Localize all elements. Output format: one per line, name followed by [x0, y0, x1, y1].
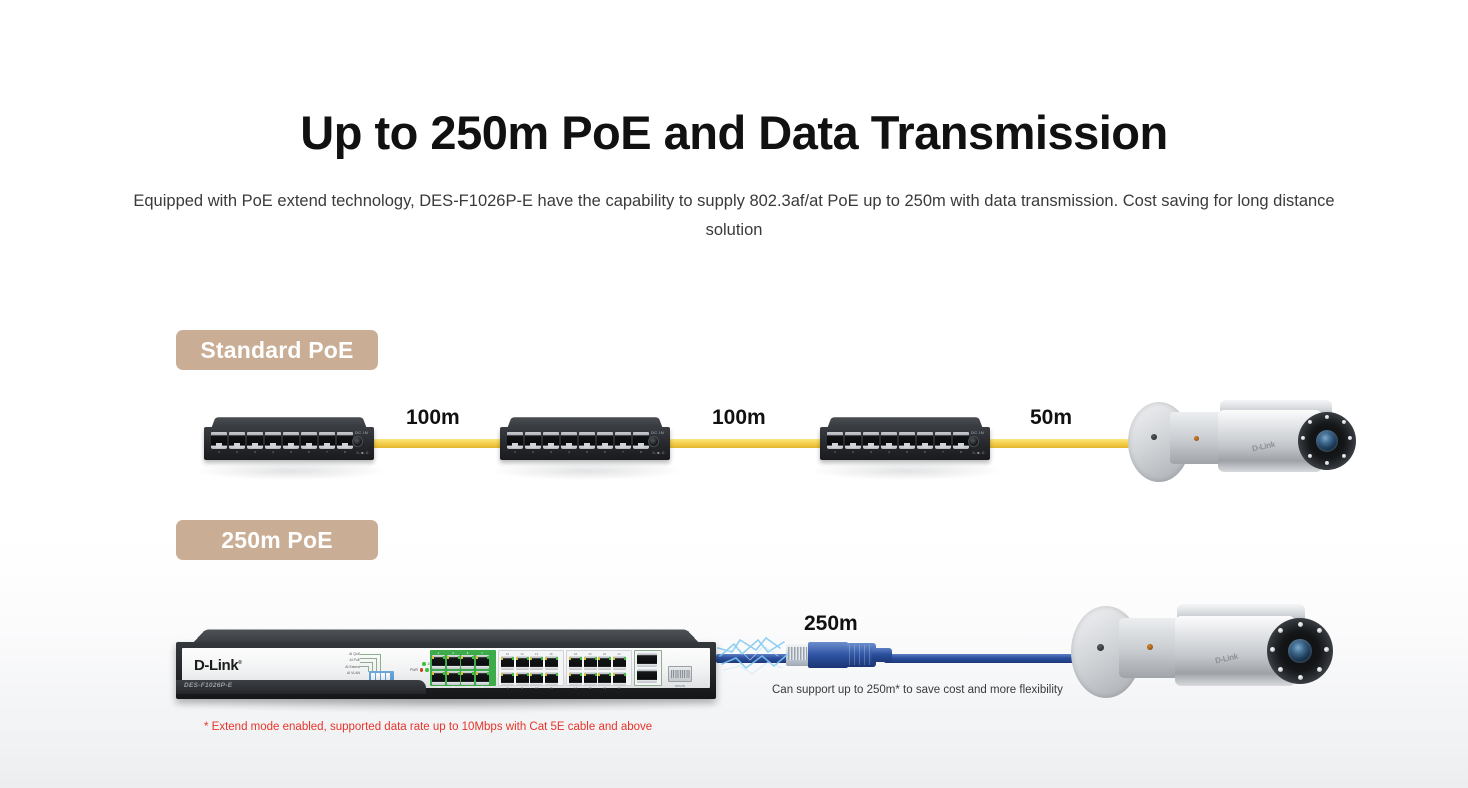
- port-bank-high[interactable]: 18 20 22 24 17 19 21 23: [566, 650, 632, 686]
- distance-label-2: 100m: [712, 406, 766, 430]
- camera-ir-led-icon: [1308, 454, 1312, 458]
- rj45-port-poe[interactable]: [432, 655, 445, 669]
- camera-mount-screw-icon: [1097, 644, 1104, 651]
- rj45-port[interactable]: [899, 432, 915, 449]
- port-number-row-bottom: 17 19 21 23: [569, 686, 629, 690]
- led-label-power: PWR: [410, 668, 418, 672]
- badge-250m-poe-label: 250m PoE: [221, 527, 333, 554]
- switch-front-panel: 1 2 3 4 5 6 7 8 DC IN 0-■-0: [820, 427, 990, 460]
- big-switch-bottom-bezel: DES-F1026P-E: [176, 680, 426, 694]
- ip-camera-extended[interactable]: D-Link: [1065, 586, 1315, 712]
- uplink-port-group[interactable]: [634, 650, 662, 686]
- rj45-port[interactable]: [319, 432, 335, 449]
- rj45-port[interactable]: [543, 432, 559, 449]
- rj45-port[interactable]: [501, 656, 514, 670]
- badge-250m-poe: 250m PoE: [176, 520, 378, 560]
- switch-front-panel: 1 2 3 4 5 6 7 8 DC IN 0-■-0: [500, 427, 670, 460]
- camera-ir-led-icon: [1270, 647, 1275, 652]
- rj45-port[interactable]: [863, 432, 879, 449]
- switch-front-panel: 1 2 3 4 5 6 7 8 DC IN 0-■-0: [204, 427, 374, 460]
- switch-model-label: DES-F1026P-E: [184, 682, 232, 689]
- port-number: 1: [827, 450, 843, 454]
- rj45-port[interactable]: [530, 672, 543, 686]
- power-led-legend: 0-■-0: [652, 450, 665, 455]
- rj45-port[interactable]: [569, 656, 582, 670]
- switch-port-numbers: 1 2 3 4 5 6 7 8: [211, 450, 353, 454]
- rj45-port[interactable]: [584, 656, 597, 670]
- rj45-port[interactable]: [530, 656, 543, 670]
- port-number: 4: [561, 450, 577, 454]
- rj45-port[interactable]: [525, 432, 541, 449]
- camera-mount-screw-icon: [1151, 434, 1157, 440]
- port-number: 8: [337, 450, 353, 454]
- port-row-bottom: [432, 671, 494, 685]
- camera-ir-led-icon: [1324, 647, 1329, 652]
- rj45-port[interactable]: [229, 432, 245, 449]
- rj45-port[interactable]: [516, 656, 529, 670]
- rj45-port[interactable]: [633, 432, 649, 449]
- badge-standard-poe-label: Standard PoE: [200, 337, 353, 364]
- camera-ir-led-icon: [1325, 461, 1329, 465]
- dip-label-ai-vlan: AI VLAN: [334, 670, 360, 676]
- dc-in-label: DC IN: [651, 430, 664, 435]
- switch-shadow: [812, 462, 1002, 480]
- rj45-port[interactable]: [579, 432, 595, 449]
- rj45-port[interactable]: [613, 656, 626, 670]
- camera-ir-led-icon: [1298, 675, 1303, 680]
- rj45-port[interactable]: [516, 672, 529, 686]
- rj45-port[interactable]: [501, 672, 514, 686]
- switch-des-f1026p-e[interactable]: D-Link® AI QoS AI PoE AI Extend AI VLAN: [176, 628, 716, 700]
- sfp-slot-label: SFP(25): [668, 684, 692, 688]
- camera-ir-led-icon: [1348, 436, 1352, 440]
- port-number: 3: [863, 450, 879, 454]
- port-number: 7: [319, 450, 335, 454]
- rj45-port[interactable]: [247, 432, 263, 449]
- port-number: 6: [917, 450, 933, 454]
- camera-ir-led-icon: [1342, 420, 1346, 424]
- power-jack[interactable]: [352, 436, 363, 447]
- rj45-cable-jacket: [872, 648, 892, 662]
- camera-ir-led-icon: [1317, 628, 1322, 633]
- power-led-legend: 0-■-0: [356, 450, 369, 455]
- extended-footnote: * Extend mode enabled, supported data ra…: [204, 721, 652, 733]
- camera-indicator-led: [1147, 644, 1153, 650]
- switch-shadow: [492, 462, 682, 480]
- rj45-port[interactable]: [507, 432, 523, 449]
- port-number: 4: [881, 450, 897, 454]
- port-number: 5: [579, 450, 595, 454]
- rj45-port[interactable]: [265, 432, 281, 449]
- rj45-port[interactable]: [283, 432, 299, 449]
- port-number: 2: [525, 450, 541, 454]
- port-number: 6: [597, 450, 613, 454]
- switch-port-group: [507, 432, 649, 449]
- rj45-port-poe[interactable]: [461, 671, 474, 685]
- power-led-legend: 0-■-0: [972, 450, 985, 455]
- led-red-icon: [420, 668, 424, 672]
- rj45-port[interactable]: [211, 432, 227, 449]
- rj45-port[interactable]: [881, 432, 897, 449]
- cable-yellow-segment-2: [652, 439, 832, 448]
- cable-blue-right: [884, 654, 1094, 663]
- switch-8port-1[interactable]: 1 2 3 4 5 6 7 8 DC IN 0-■-0: [204, 416, 374, 462]
- rj45-port[interactable]: [337, 432, 353, 449]
- camera-ir-led-icon: [1342, 454, 1346, 458]
- rj45-port-uplink[interactable]: [637, 669, 657, 683]
- rj45-port[interactable]: [301, 432, 317, 449]
- cable-yellow-segment-1: [356, 439, 516, 448]
- ip-camera-standard[interactable]: D-Link: [1122, 384, 1337, 494]
- dc-in-label: DC IN: [355, 430, 368, 435]
- rj45-port[interactable]: [598, 656, 611, 670]
- rj45-port-poe[interactable]: [447, 671, 460, 685]
- port-number: 4: [265, 450, 281, 454]
- rj45-port[interactable]: [827, 432, 843, 449]
- port-number: 1: [507, 450, 523, 454]
- rj45-port[interactable]: [597, 432, 613, 449]
- rj45-port-uplink[interactable]: [637, 653, 657, 667]
- port-row-bottom: [569, 672, 629, 686]
- rj45-port-poe[interactable]: [432, 671, 445, 685]
- port-row-bottom: [501, 672, 561, 686]
- rj45-port-poe[interactable]: [476, 655, 489, 669]
- rj45-port[interactable]: [545, 656, 558, 670]
- camera-ir-led-icon: [1278, 628, 1283, 633]
- rj45-port[interactable]: [598, 672, 611, 686]
- camera-ir-led-icon: [1298, 622, 1303, 627]
- port-number: 7: [935, 450, 951, 454]
- page-title: Up to 250m PoE and Data Transmission: [0, 108, 1468, 157]
- rj45-port[interactable]: [584, 672, 597, 686]
- camera-indicator-led: [1194, 436, 1199, 441]
- switch-8port-3[interactable]: 1 2 3 4 5 6 7 8 DC IN 0-■-0: [820, 416, 990, 462]
- camera-ir-led-icon: [1325, 415, 1329, 419]
- dc-in-label: DC IN: [971, 430, 984, 435]
- port-row-top: [432, 655, 494, 669]
- switch-port-numbers: 1 2 3 4 5 6 7 8: [827, 450, 969, 454]
- distance-label-3: 50m: [1030, 406, 1072, 430]
- power-jack[interactable]: [648, 436, 659, 447]
- page-subtitle: Equipped with PoE extend technology, DES…: [119, 187, 1349, 245]
- rj45-port[interactable]: [569, 672, 582, 686]
- led-green-icon: [422, 662, 426, 666]
- rj45-port[interactable]: [917, 432, 933, 449]
- dip-switch-leader-lines: [360, 653, 382, 673]
- port-number: 1: [211, 450, 227, 454]
- rj45-port-poe[interactable]: [447, 655, 460, 669]
- dlink-logo: D-Link®: [194, 657, 242, 674]
- switch-port-group: [827, 432, 969, 449]
- led-green-icon: [425, 668, 429, 672]
- port-number: 5: [899, 450, 915, 454]
- power-jack[interactable]: [968, 436, 979, 447]
- extended-caption: Can support up to 250m* to save cost and…: [772, 684, 1063, 696]
- dip-switch-labels: AI QoS AI PoE AI Extend AI VLAN: [334, 651, 360, 676]
- rj45-port-poe[interactable]: [461, 655, 474, 669]
- rj45-port[interactable]: [615, 432, 631, 449]
- rj45-port[interactable]: [545, 672, 558, 686]
- port-number: 3: [247, 450, 263, 454]
- port-bank-mid[interactable]: 10 12 14 16 9 11 13 15: [498, 650, 564, 686]
- sfp-slot[interactable]: [668, 666, 692, 682]
- switch-shadow: [196, 462, 386, 480]
- switch-8port-2[interactable]: 1 2 3 4 5 6 7 8 DC IN 0-■-0: [500, 416, 670, 462]
- port-number: 2: [229, 450, 245, 454]
- rj45-connector-ribs: [849, 645, 873, 665]
- rj45-port[interactable]: [845, 432, 861, 449]
- camera-ir-led-icon: [1278, 667, 1283, 672]
- port-number: 6: [301, 450, 317, 454]
- camera-ir-led-icon: [1317, 667, 1322, 672]
- port-number-row-bottom: 2 4 6 8: [432, 685, 494, 689]
- badge-standard-poe: Standard PoE: [176, 330, 378, 370]
- camera-ir-led-icon: [1301, 436, 1305, 440]
- port-number: 8: [633, 450, 649, 454]
- distance-label-1: 100m: [406, 406, 460, 430]
- camera-lens: [1316, 430, 1338, 452]
- poe-port-bank-green[interactable]: 1 3 5 7 2 4 6 8: [430, 650, 496, 686]
- camera-ir-led-icon: [1308, 420, 1312, 424]
- port-row-top: [501, 656, 561, 670]
- camera-lens: [1288, 639, 1312, 663]
- port-number: 8: [953, 450, 969, 454]
- rj45-port[interactable]: [935, 432, 951, 449]
- switch-port-numbers: 1 2 3 4 5 6 7 8: [507, 450, 649, 454]
- port-row-top: [569, 656, 629, 670]
- distance-label-250m: 250m: [804, 612, 858, 636]
- rj45-port[interactable]: [613, 672, 626, 686]
- port-number: 2: [845, 450, 861, 454]
- rj45-port-poe[interactable]: [476, 671, 489, 685]
- port-number: 3: [543, 450, 559, 454]
- port-number: 5: [283, 450, 299, 454]
- page-header: Up to 250m PoE and Data Transmission Equ…: [0, 0, 1468, 245]
- port-number-row-bottom: 9 11 13 15: [501, 686, 561, 690]
- port-number: 7: [615, 450, 631, 454]
- rj45-port[interactable]: [561, 432, 577, 449]
- rj45-port[interactable]: [953, 432, 969, 449]
- switch-port-group: [211, 432, 353, 449]
